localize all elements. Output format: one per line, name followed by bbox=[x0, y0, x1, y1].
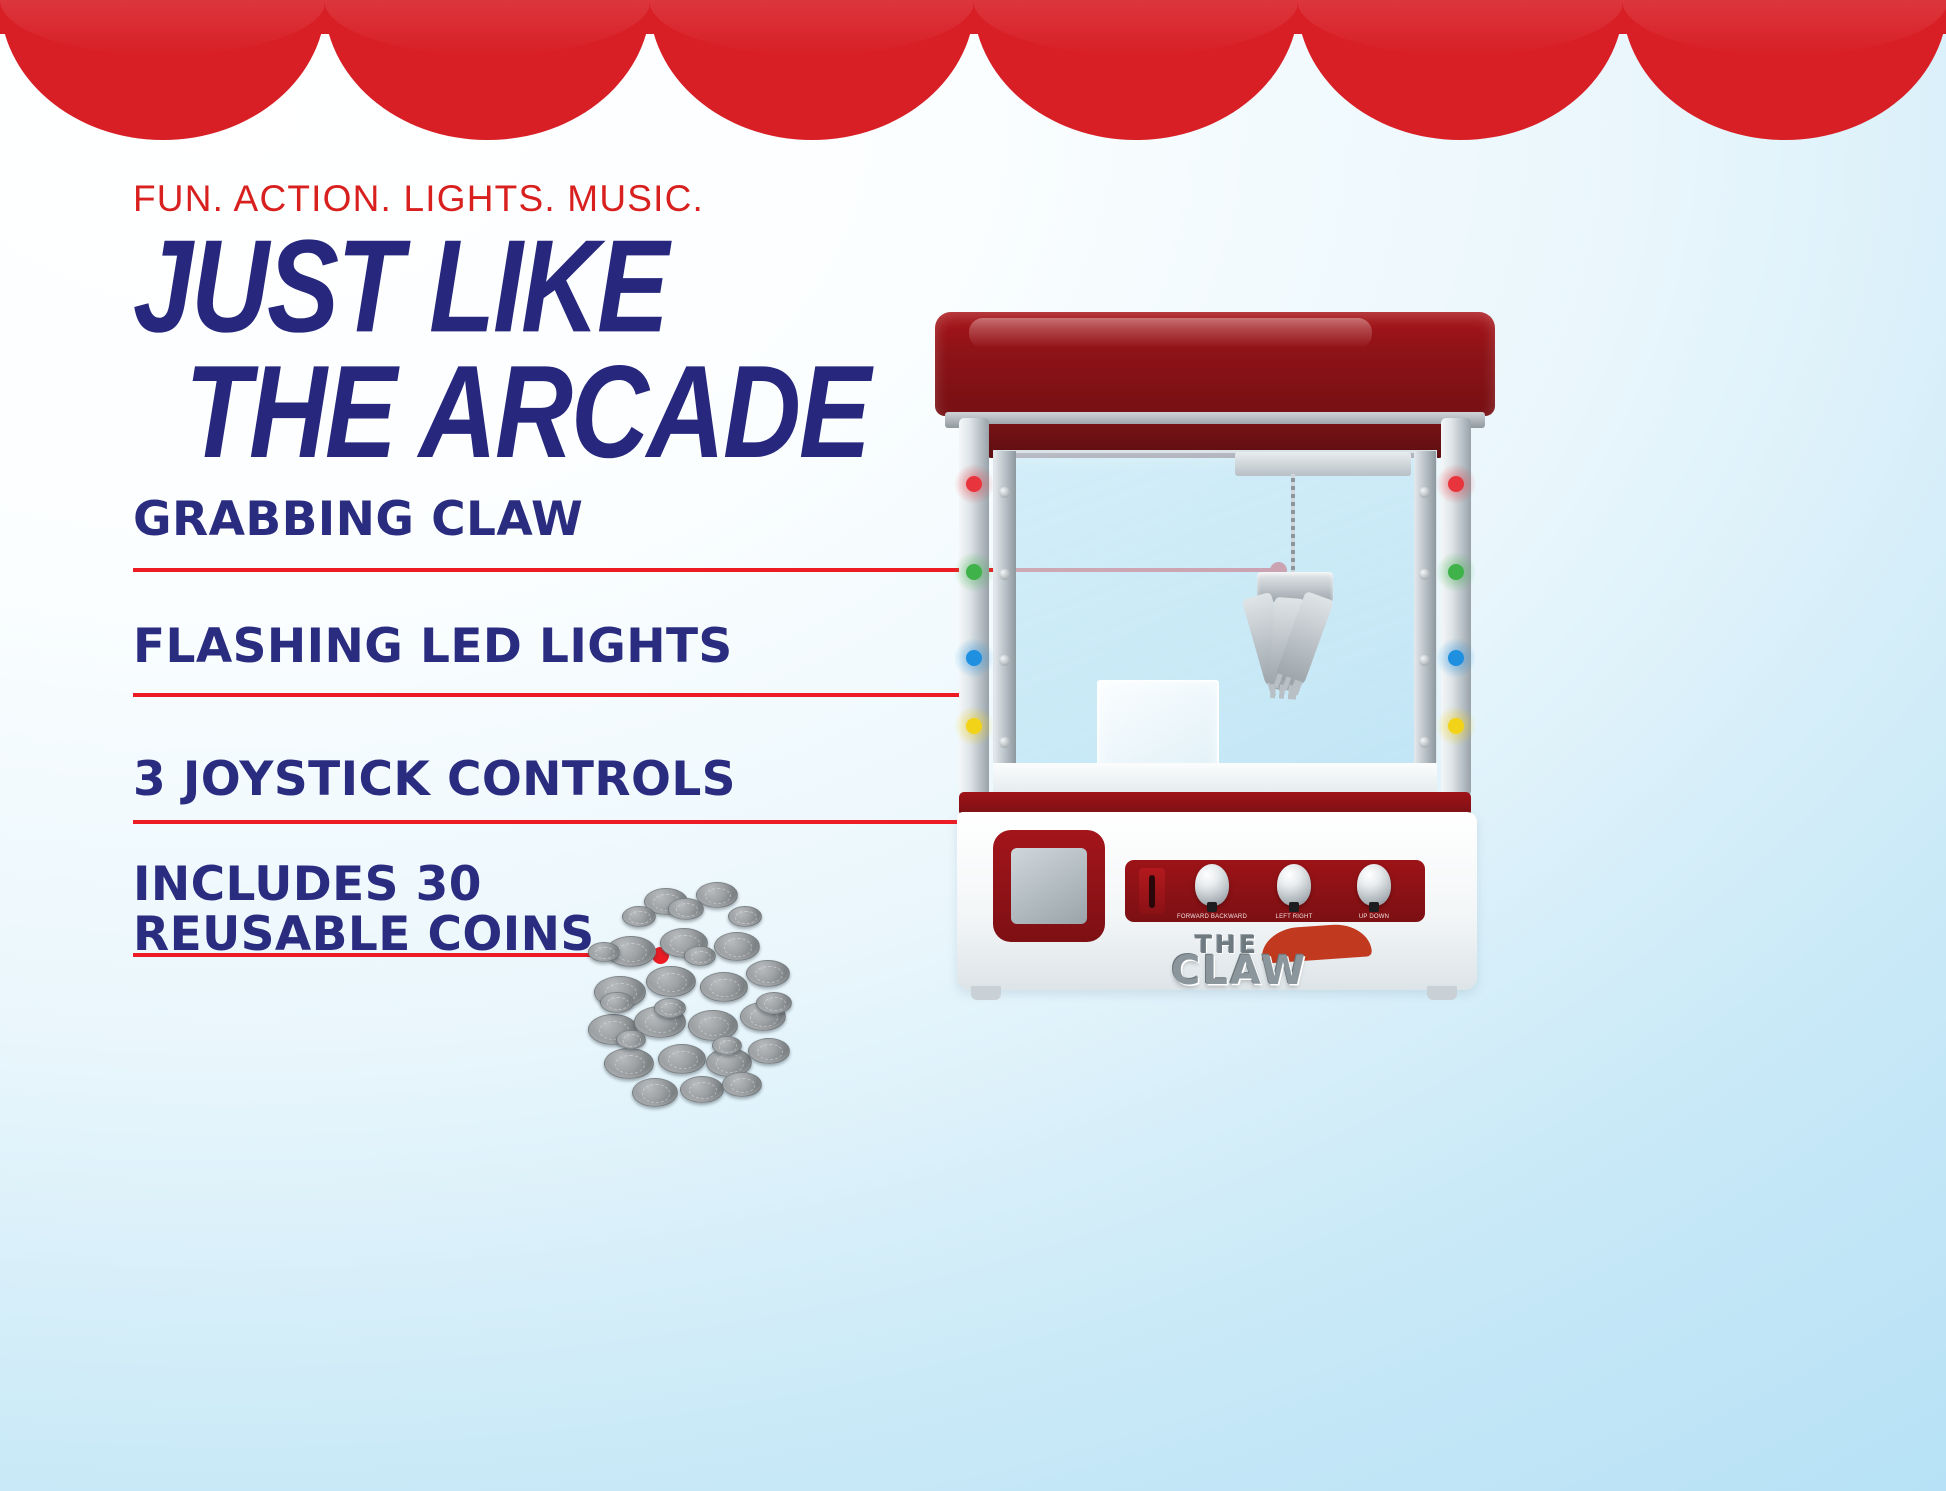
coin bbox=[622, 906, 656, 927]
machine-foot bbox=[1427, 986, 1457, 1000]
coin bbox=[712, 1036, 742, 1055]
reusable-coins-pile bbox=[588, 880, 848, 1130]
marquee-scallop bbox=[973, 0, 1299, 140]
frame-screw bbox=[999, 737, 1010, 748]
leader-line-coins bbox=[133, 953, 660, 957]
coin bbox=[600, 992, 634, 1013]
feature-label: FLASHING LED LIGHTS bbox=[133, 622, 971, 672]
coin bbox=[616, 1030, 646, 1049]
headline-block: FUN. ACTION. LIGHTS. MUSIC. JUST LIKE TH… bbox=[133, 178, 1033, 429]
led-light bbox=[966, 564, 982, 580]
marquee-scallop bbox=[0, 0, 326, 140]
feature-label: INCLUDES 30 REUSABLE COINS bbox=[133, 860, 660, 960]
joystick-label-up-down: UP DOWN bbox=[1331, 914, 1417, 920]
crown-gloss bbox=[969, 318, 1372, 348]
prize-chute-guard bbox=[1097, 680, 1219, 776]
marquee-scallop bbox=[1622, 0, 1946, 140]
coin bbox=[680, 1076, 724, 1103]
claw-chain bbox=[1291, 474, 1295, 578]
joystick-stem bbox=[1369, 902, 1379, 912]
prize-door-window bbox=[1011, 848, 1087, 924]
coin bbox=[748, 1038, 790, 1064]
headline-line-1: JUST LIKE bbox=[133, 224, 1033, 349]
coin bbox=[722, 1072, 762, 1097]
claw-machine-product-photo: FORWARD BACKWARD LEFT RIGHT UP DOWN THE … bbox=[935, 300, 1495, 1015]
coin bbox=[658, 1044, 706, 1074]
coin bbox=[684, 946, 716, 966]
joystick-knob bbox=[1195, 864, 1229, 906]
joystick-up-down[interactable] bbox=[1353, 864, 1397, 920]
led-light bbox=[966, 718, 982, 734]
control-panel: FORWARD BACKWARD LEFT RIGHT UP DOWN bbox=[1125, 860, 1425, 922]
marquee-scallops bbox=[0, 0, 1946, 175]
led-light bbox=[966, 476, 982, 492]
led-light bbox=[966, 650, 982, 666]
coin bbox=[700, 972, 748, 1002]
marquee-scallop bbox=[649, 0, 975, 140]
glass-frame-left bbox=[994, 451, 1016, 793]
joystick-left-right[interactable] bbox=[1273, 864, 1317, 920]
machine-foot bbox=[971, 986, 1001, 1000]
headline-line-2: THE ARCADE bbox=[133, 349, 1033, 474]
logo-claw-text: CLAW bbox=[1171, 948, 1307, 994]
marquee-band bbox=[0, 0, 1946, 34]
led-light bbox=[1448, 718, 1464, 734]
coin bbox=[646, 966, 696, 997]
prize-door[interactable] bbox=[993, 830, 1105, 942]
coin bbox=[756, 992, 792, 1014]
leader-line-led-lights bbox=[133, 693, 971, 697]
glass-frame-right bbox=[1414, 451, 1436, 793]
frame-screw bbox=[999, 569, 1010, 580]
frame-screw bbox=[999, 655, 1010, 666]
coin-slot[interactable] bbox=[1139, 868, 1165, 914]
coin bbox=[654, 998, 686, 1018]
coin bbox=[728, 906, 762, 927]
frame-screw bbox=[999, 487, 1010, 498]
joystick-stem bbox=[1207, 902, 1217, 912]
coin bbox=[588, 942, 620, 962]
joystick-label-forward-backward: FORWARD BACKWARD bbox=[1169, 914, 1255, 920]
joystick-knob bbox=[1277, 864, 1311, 906]
coin bbox=[632, 1078, 678, 1107]
joystick-forward-backward[interactable] bbox=[1191, 864, 1235, 920]
coin bbox=[668, 898, 704, 920]
marquee-scallop bbox=[1297, 0, 1623, 140]
page-title: JUST LIKE THE ARCADE bbox=[133, 224, 1033, 474]
feature-flashing-led-lights: FLASHING LED LIGHTS bbox=[133, 622, 971, 684]
claw-gantry bbox=[1235, 452, 1411, 476]
frame-screw bbox=[1419, 569, 1430, 580]
led-light bbox=[1448, 476, 1464, 492]
machine-crown bbox=[935, 312, 1495, 416]
coin bbox=[746, 960, 790, 987]
led-post-right bbox=[1441, 418, 1471, 796]
led-post-left bbox=[959, 418, 989, 796]
coin bbox=[714, 932, 760, 961]
coin bbox=[604, 1048, 654, 1079]
led-light bbox=[1448, 564, 1464, 580]
machine-base: FORWARD BACKWARD LEFT RIGHT UP DOWN THE … bbox=[957, 812, 1477, 990]
joystick-label-left-right: LEFT RIGHT bbox=[1251, 914, 1337, 920]
marquee-valance bbox=[0, 0, 1946, 175]
joystick-knob bbox=[1357, 864, 1391, 906]
frame-screw bbox=[1419, 487, 1430, 498]
frame-screw bbox=[1419, 655, 1430, 666]
the-claw-logo: THE CLAW bbox=[1157, 930, 1397, 982]
led-light bbox=[1448, 650, 1464, 666]
marquee-scallop bbox=[324, 0, 650, 140]
joystick-stem bbox=[1289, 902, 1299, 912]
frame-screw bbox=[1419, 737, 1430, 748]
